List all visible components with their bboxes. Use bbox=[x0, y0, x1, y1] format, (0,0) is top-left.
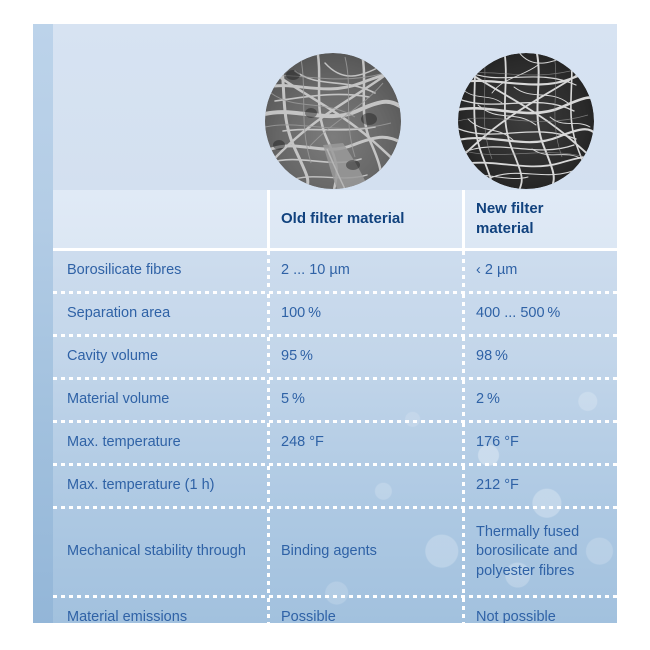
row-divider-1 bbox=[267, 294, 270, 334]
table-row: Borosilicate fibres 2 ... 10 µm ‹ 2 µm bbox=[53, 251, 617, 291]
row-property: Material volume bbox=[53, 380, 267, 420]
table-row: Mechanical stability through Binding age… bbox=[53, 509, 617, 595]
row-new-value: ‹ 2 µm bbox=[462, 251, 617, 291]
header-cell-property bbox=[53, 190, 267, 248]
row-property: Max. temperature (1 h) bbox=[53, 466, 267, 506]
row-property: Mechanical stability through bbox=[53, 509, 267, 595]
row-new-value: 176 °F bbox=[462, 423, 617, 463]
table-row: Material emissions Possible Not possible bbox=[53, 598, 617, 623]
table-row: Cavity volume 95 % 98 % bbox=[53, 337, 617, 377]
table-row: Separation area 100 % 400 ... 500 % bbox=[53, 294, 617, 334]
row-divider-2 bbox=[462, 598, 465, 623]
new-filter-micrograph-svg bbox=[458, 53, 594, 189]
row-divider-2 bbox=[462, 466, 465, 506]
row-divider-2 bbox=[462, 423, 465, 463]
row-property: Cavity volume bbox=[53, 337, 267, 377]
row-old-value: 100 % bbox=[267, 294, 462, 334]
table-row: Max. temperature 248 °F 176 °F bbox=[53, 423, 617, 463]
row-old-value bbox=[267, 466, 462, 506]
row-new-value: 212 °F bbox=[462, 466, 617, 506]
row-property: Max. temperature bbox=[53, 423, 267, 463]
header-cell-old: Old filter material bbox=[267, 190, 462, 248]
row-divider-2 bbox=[462, 294, 465, 334]
row-new-value: Not possible bbox=[462, 598, 617, 623]
row-new-value: 2 % bbox=[462, 380, 617, 420]
row-divider-2 bbox=[462, 337, 465, 377]
old-filter-micrograph bbox=[265, 53, 401, 189]
header-divider-2 bbox=[462, 190, 465, 248]
row-divider-1 bbox=[267, 598, 270, 623]
row-property: Material emissions bbox=[53, 598, 267, 623]
table-row: Max. temperature (1 h) 212 °F bbox=[53, 466, 617, 506]
row-new-value: 98 % bbox=[462, 337, 617, 377]
row-new-value: Thermally fused borosilicate and polyest… bbox=[462, 509, 617, 595]
micrograph-row bbox=[33, 51, 617, 196]
new-filter-micrograph bbox=[458, 53, 594, 189]
figure-root: Old filter material New filter material … bbox=[0, 0, 650, 650]
row-old-value: 95 % bbox=[267, 337, 462, 377]
table-body: Borosilicate fibres 2 ... 10 µm ‹ 2 µm S… bbox=[53, 251, 617, 623]
row-property: Separation area bbox=[53, 294, 267, 334]
header-cell-new: New filter material bbox=[462, 190, 617, 248]
table-header-row: Old filter material New filter material bbox=[53, 190, 617, 248]
row-divider-1 bbox=[267, 380, 270, 420]
row-divider-1 bbox=[267, 423, 270, 463]
row-divider-2 bbox=[462, 380, 465, 420]
row-old-value: 2 ... 10 µm bbox=[267, 251, 462, 291]
comparison-panel: Old filter material New filter material … bbox=[33, 24, 617, 623]
row-divider-1 bbox=[267, 466, 270, 506]
old-filter-micrograph-svg bbox=[265, 53, 401, 189]
row-divider-2 bbox=[462, 509, 465, 595]
row-old-value: Binding agents bbox=[267, 509, 462, 595]
comparison-table: Old filter material New filter material … bbox=[53, 190, 617, 623]
row-old-value: 248 °F bbox=[267, 423, 462, 463]
row-divider-2 bbox=[462, 251, 465, 291]
table-row: Material volume 5 % 2 % bbox=[53, 380, 617, 420]
row-divider-1 bbox=[267, 337, 270, 377]
row-property: Borosilicate fibres bbox=[53, 251, 267, 291]
row-divider-1 bbox=[267, 509, 270, 595]
header-divider-1 bbox=[267, 190, 270, 248]
row-new-value: 400 ... 500 % bbox=[462, 294, 617, 334]
row-old-value: 5 % bbox=[267, 380, 462, 420]
row-old-value: Possible bbox=[267, 598, 462, 623]
row-divider-1 bbox=[267, 251, 270, 291]
